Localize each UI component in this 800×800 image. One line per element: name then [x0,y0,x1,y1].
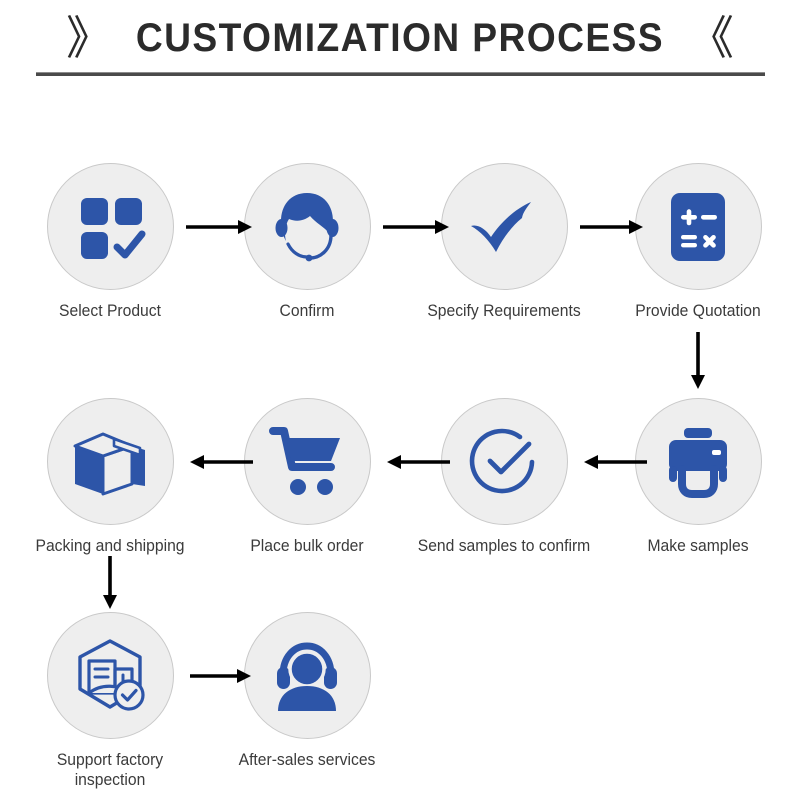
step-icon-circle [441,163,568,290]
flow-step-make-samples[interactable]: Make samples [598,398,798,556]
arrow-step6-to-step7 [386,453,450,471]
printer-icon [659,426,737,498]
chevron-left-double-icon: 《 [688,15,734,61]
grid-check-icon [73,190,147,264]
chevron-right-double-icon: 》 [66,15,112,61]
package-box-icon [70,424,150,500]
step-label: Specify Requirements [409,301,599,321]
step-label: Packing and shipping [15,536,205,556]
flow-step-packing-and-shipping[interactable]: Packing and shipping [10,398,210,556]
flow-step-confirm[interactable]: Confirm [207,163,407,321]
step-icon-circle [441,398,568,525]
step-icon-circle [244,612,371,739]
step-icon-circle [635,398,762,525]
step-icon-circle [47,612,174,739]
flow-step-specify-requirements[interactable]: Specify Requirements [404,163,604,321]
arrow-step2-to-step3 [383,218,450,236]
step-icon-circle [244,398,371,525]
step-label: Provide Quotation [603,301,793,321]
arrow-step3-to-step4 [580,218,644,236]
step-label: Make samples [603,536,793,556]
header: 》 CUSTOMIZATION PROCESS 《 [0,0,800,92]
page-title: 》 CUSTOMIZATION PROCESS 《 [0,8,800,68]
arrow-step9-to-step10 [190,667,252,685]
step-label: After-sales services [212,750,402,770]
flow-step-send-samples-to-confirm[interactable]: Send samples to confirm [404,398,604,556]
flow-step-after-sales-services[interactable]: After-sales services [207,612,407,770]
arrow-step5-to-step6 [583,453,647,471]
step-icon-circle [47,163,174,290]
infographic-page: 》 CUSTOMIZATION PROCESS 《 Select Product [0,0,800,800]
flow-step-place-bulk-order[interactable]: Place bulk order [207,398,407,556]
flow-step-select-product[interactable]: Select Product [10,163,210,321]
step-icon-circle [47,398,174,525]
arrow-step7-to-step8 [189,453,253,471]
shopping-cart-icon [268,425,346,499]
step-label: Place bulk order [212,536,402,556]
flow-step-support-factory-inspection[interactable]: Support factory inspection [10,612,210,790]
calculator-icon [663,190,733,264]
step-label: Confirm [212,301,402,321]
step-label: Send samples to confirm [409,536,599,556]
headset-person-icon [267,639,347,713]
step-icon-circle [244,163,371,290]
step-label: Support factory inspection [15,750,205,790]
factory-shield-check-icon [70,637,150,715]
page-title-text: CUSTOMIZATION PROCESS [136,16,664,61]
flow-step-provide-quotation[interactable]: Provide Quotation [598,163,798,321]
support-agent-icon [268,188,346,266]
check-mark-icon [465,188,543,266]
arrow-step1-to-step2 [186,218,253,236]
step-label: Select Product [15,301,205,321]
arrow-step8-to-step9 [101,556,119,610]
step-icon-circle [635,163,762,290]
header-divider [36,72,765,76]
check-circle-icon [466,424,542,500]
arrow-step4-to-step5 [689,332,707,390]
